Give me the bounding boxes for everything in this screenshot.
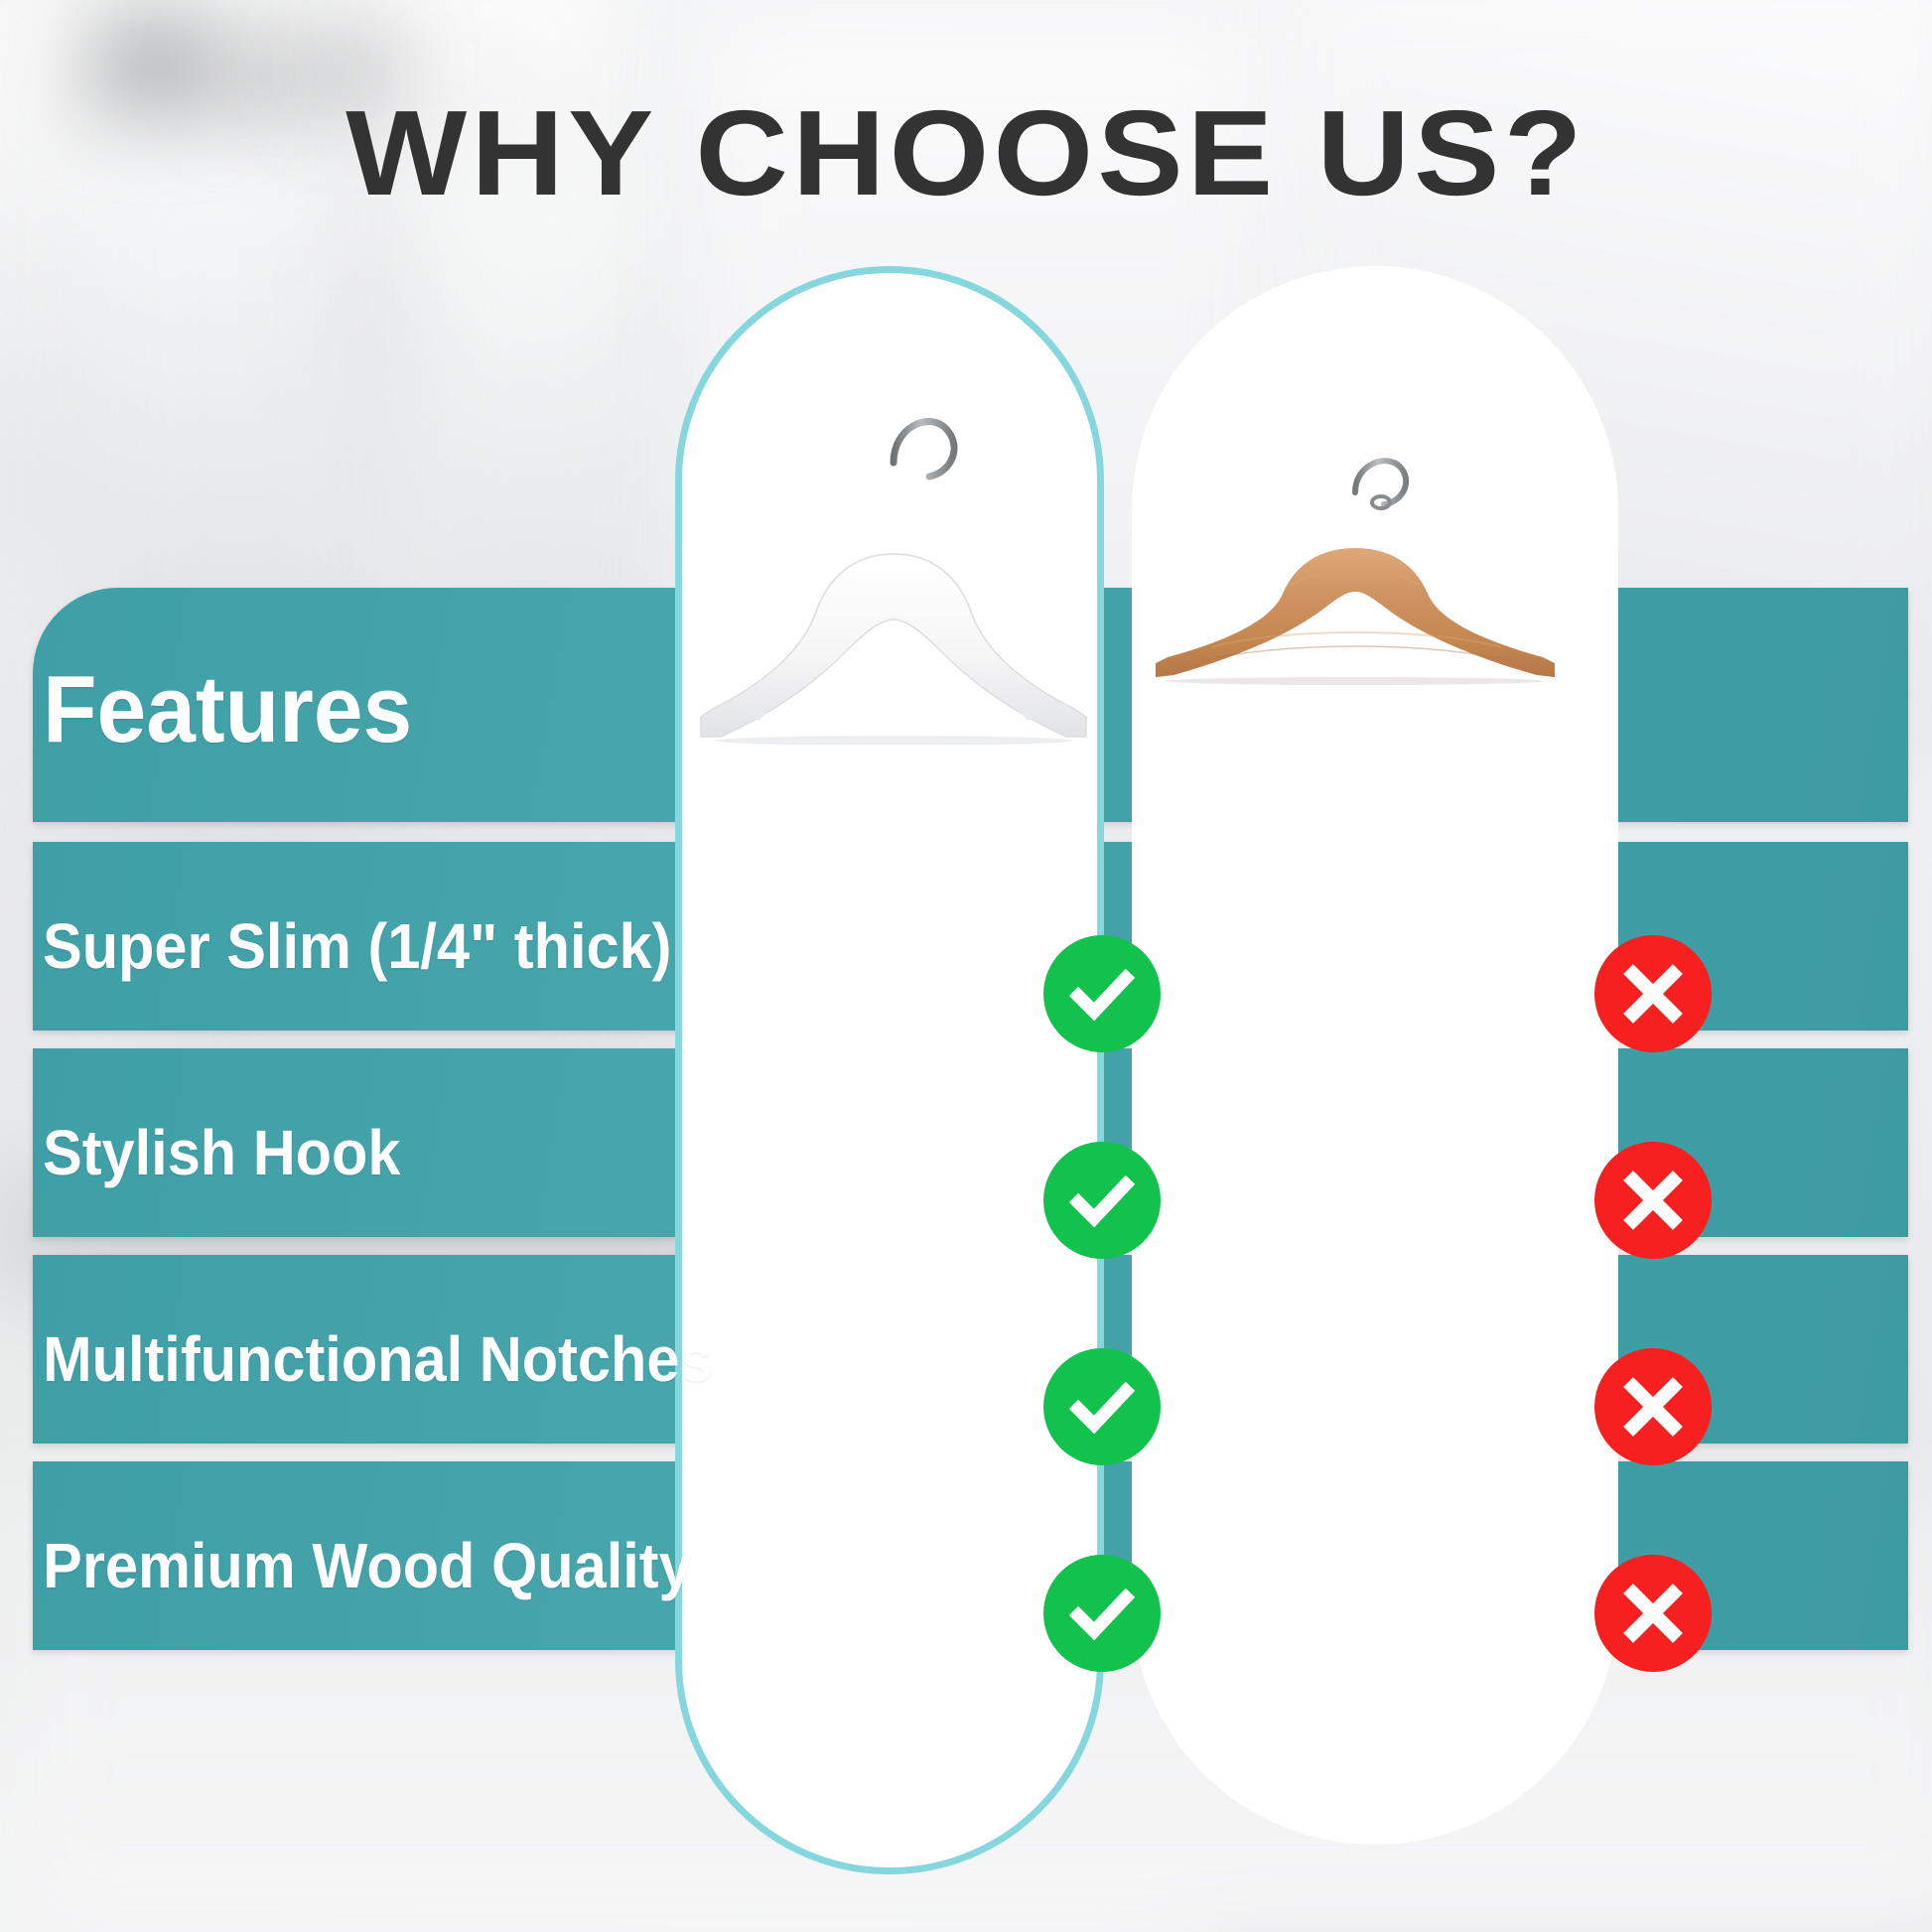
cross-circle-icon (1594, 935, 1712, 1052)
check-circle-icon (1043, 1348, 1161, 1465)
page-title: WHY CHOOSE US? (0, 83, 1932, 222)
cross-circle-icon (1594, 1142, 1712, 1259)
background-shape (0, 1172, 755, 1291)
wooden-standard-hanger-image (1142, 437, 1569, 685)
cross-circle-icon (1594, 1348, 1712, 1465)
check-circle-icon (1043, 935, 1161, 1052)
background-shape (427, 159, 635, 774)
cross-circle-icon (1594, 1555, 1712, 1672)
background-shape (149, 894, 665, 1191)
check-circle-icon (1043, 1142, 1161, 1259)
check-circle-icon (1043, 1555, 1161, 1672)
white-slim-hanger-image (685, 367, 1102, 745)
